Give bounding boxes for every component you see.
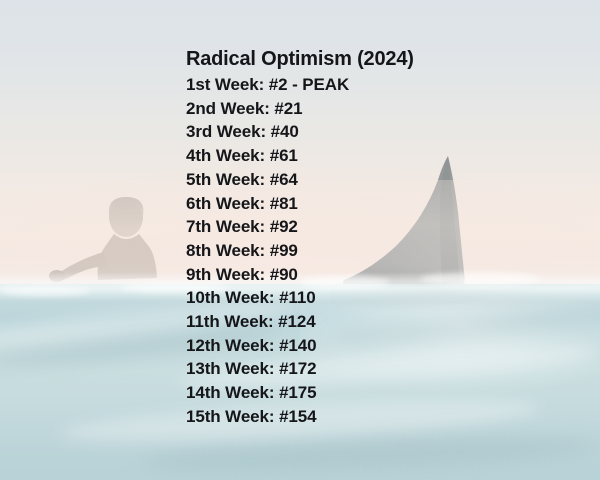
foam-detail <box>0 286 90 296</box>
list-item: 13th Week: #172 <box>186 357 586 381</box>
list-item: 3rd Week: #40 <box>186 120 586 144</box>
list-item: 4th Week: #61 <box>186 144 586 168</box>
list-item: 11th Week: #124 <box>186 310 586 334</box>
list-item: 7th Week: #92 <box>186 215 586 239</box>
list-item: 5th Week: #64 <box>186 168 586 192</box>
list-item: 9th Week: #90 <box>186 263 586 287</box>
chart-run-list: Radical Optimism (2024) 1st Week: #2 - P… <box>186 46 586 429</box>
list-item: 2nd Week: #21 <box>186 97 586 121</box>
list-item: 10th Week: #110 <box>186 286 586 310</box>
page-title: Radical Optimism (2024) <box>186 46 586 72</box>
list-item: 8th Week: #99 <box>186 239 586 263</box>
list-item: 1st Week: #2 - PEAK <box>186 73 586 97</box>
ocean-chart-image: Radical Optimism (2024) 1st Week: #2 - P… <box>0 0 600 480</box>
list-item: 6th Week: #81 <box>186 192 586 216</box>
list-item: 12th Week: #140 <box>186 334 586 358</box>
list-item: 15th Week: #154 <box>186 405 586 429</box>
list-item: 14th Week: #175 <box>186 381 586 405</box>
